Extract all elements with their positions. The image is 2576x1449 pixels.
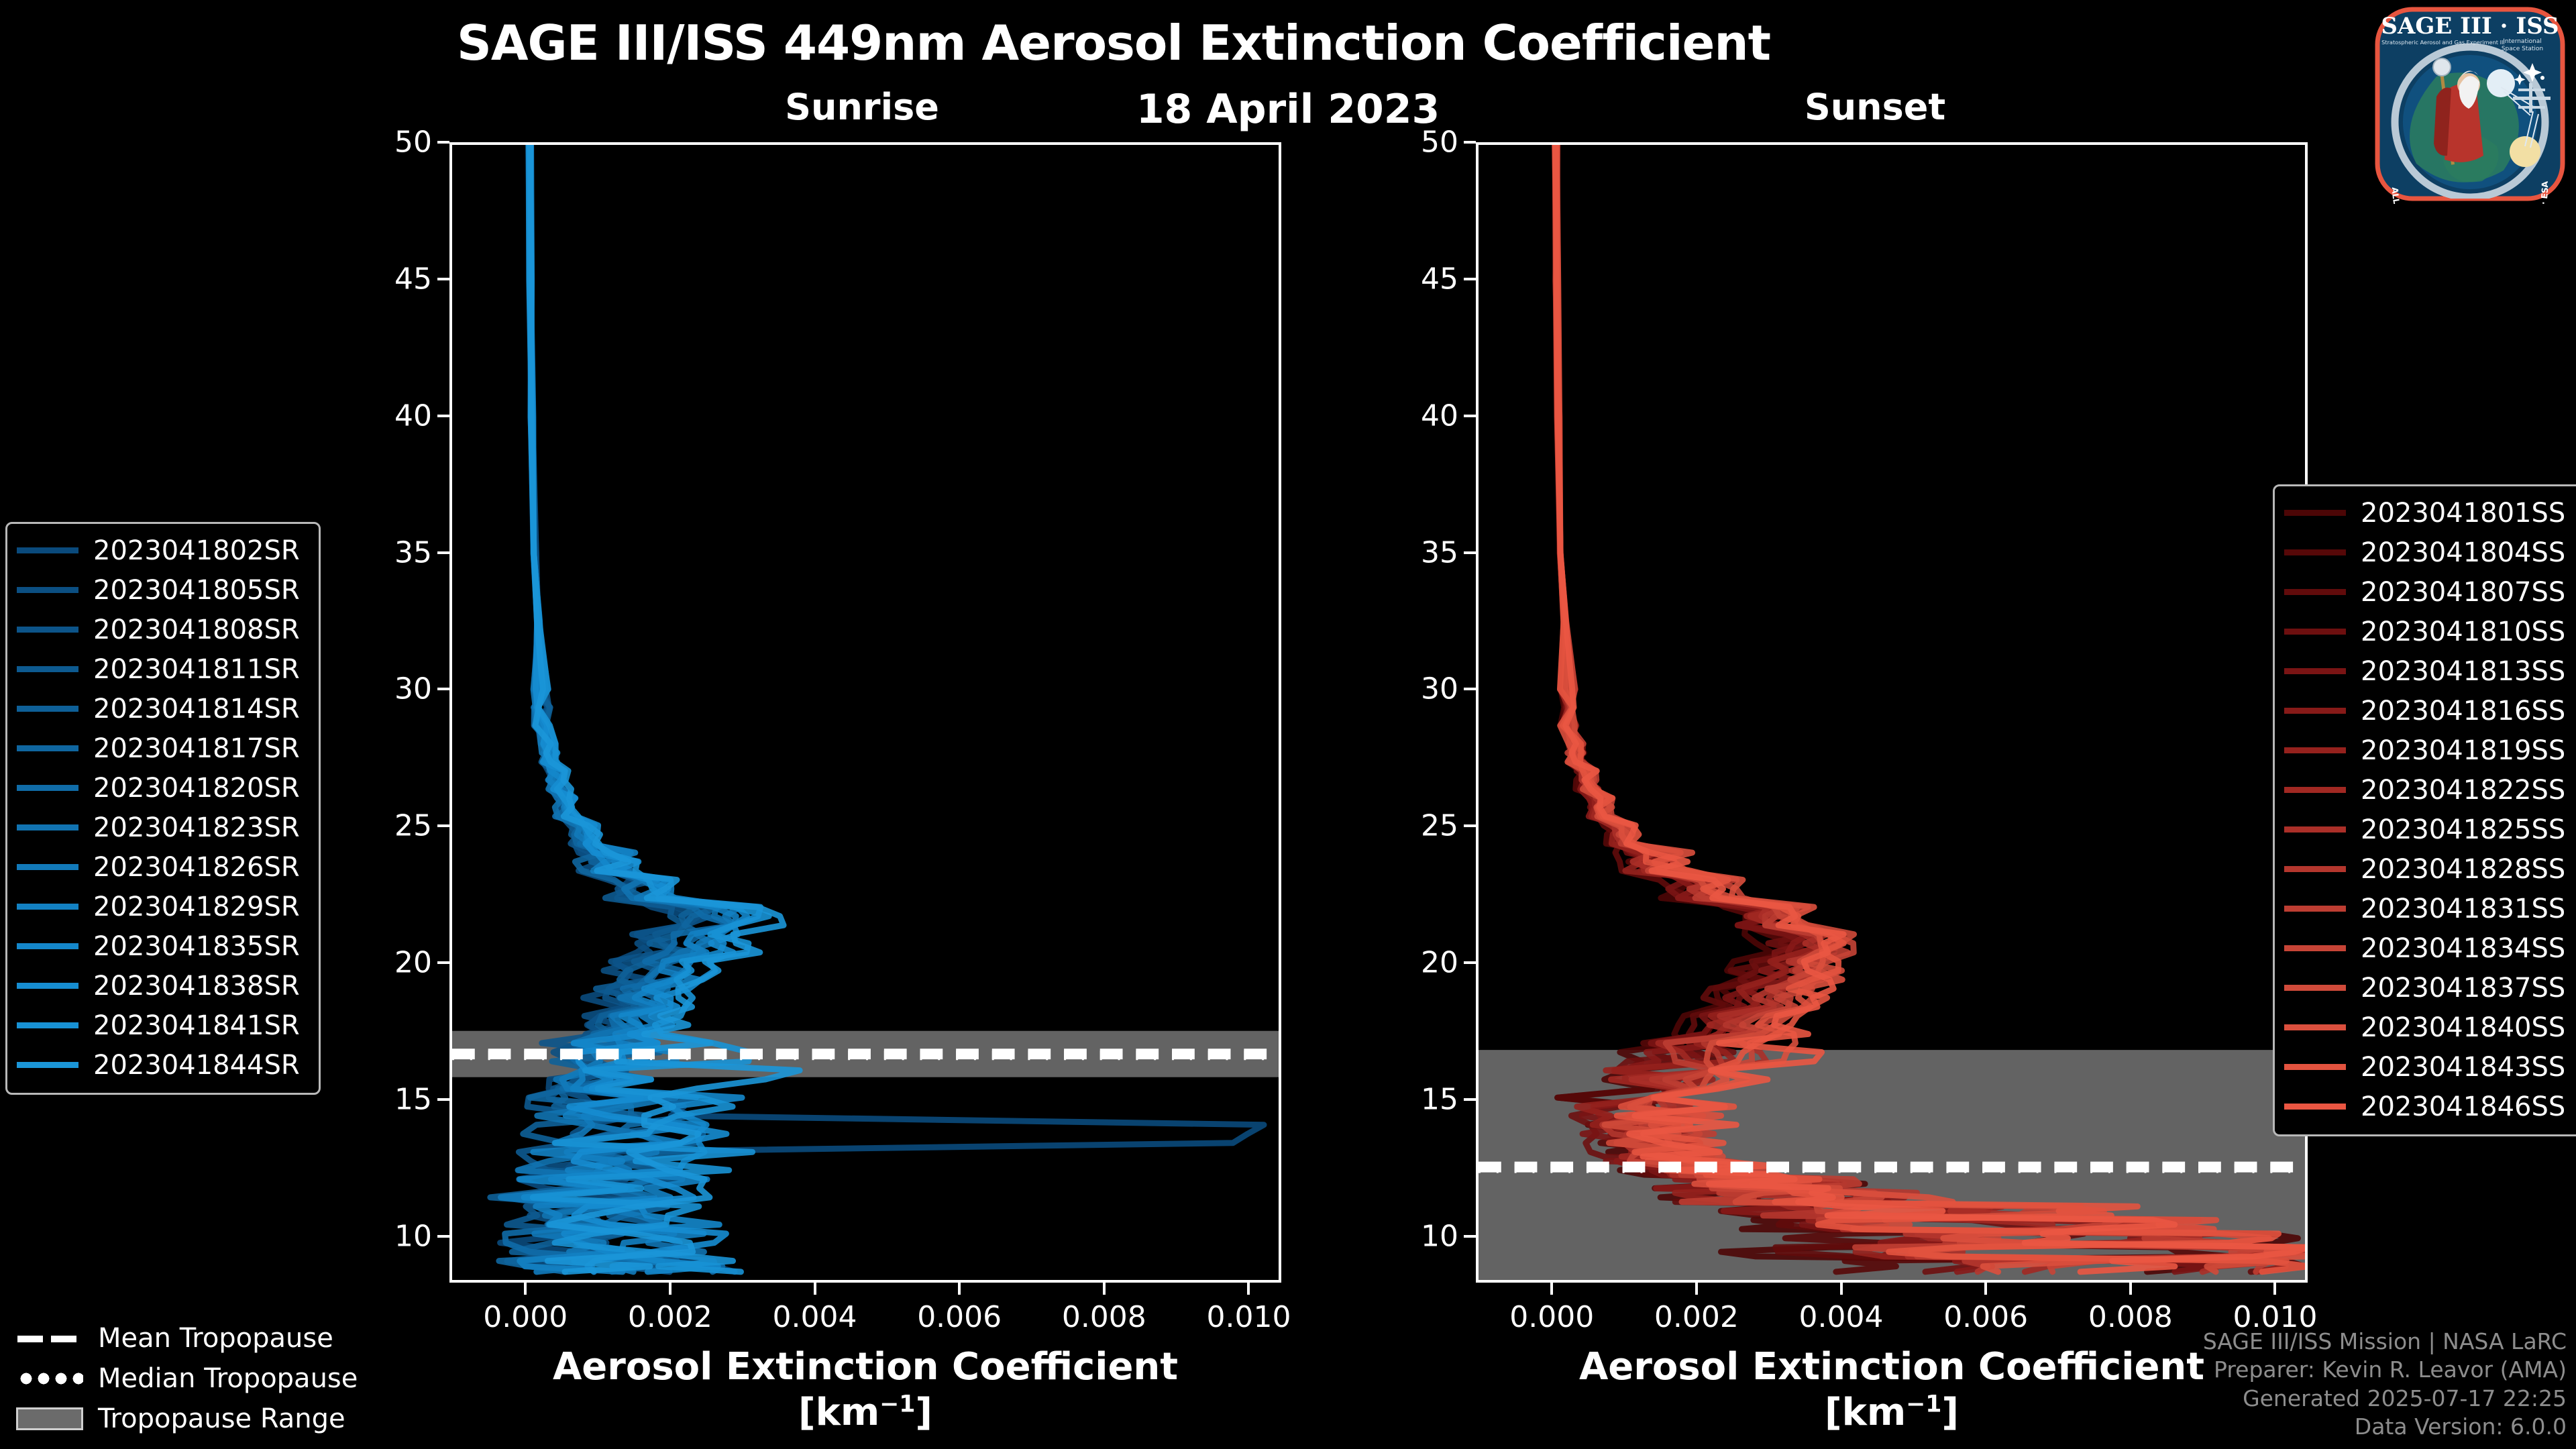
- legend-item-label: 2023041811SR: [93, 654, 300, 685]
- tropopause-range-label: Tropopause Range: [98, 1403, 345, 1434]
- x-tick-mark: [669, 1283, 672, 1295]
- sunrise-axes-frame: [449, 142, 1281, 1283]
- x-tick-label: 0.008: [1062, 1300, 1146, 1334]
- legend-item-sunrise-0[interactable]: 2023041802SR: [17, 531, 307, 570]
- sunset-panel-title: Sunset: [1462, 86, 2288, 128]
- legend-item-label: 2023041814SR: [93, 694, 300, 724]
- y-tick-mark: [437, 278, 449, 280]
- y-tick-mark: [1464, 1235, 1476, 1238]
- x-axis-label-text-right: Aerosol Extinction Coefficient: [1579, 1345, 2204, 1389]
- x-axis-label-left: Aerosol Extinction Coefficient [km−1]: [449, 1344, 1281, 1436]
- legend-item-label: 2023041804SS: [2361, 537, 2565, 568]
- x-tick-mark: [1840, 1283, 1843, 1295]
- legend-color-swatch-icon: [2284, 787, 2346, 793]
- legend-color-swatch-icon: [2284, 1024, 2346, 1030]
- legend-color-swatch-icon: [17, 785, 78, 791]
- x-tick-label: 0.000: [483, 1300, 568, 1334]
- x-tick-label: 0.006: [1943, 1300, 2028, 1334]
- sunset-plot-panel: Altitude [km] 1015202530354045500.0000.0…: [1476, 142, 2308, 1283]
- legend-item-label: 2023041810SS: [2361, 616, 2565, 647]
- x-tick-mark: [1103, 1283, 1106, 1295]
- y-tick-mark: [437, 141, 449, 144]
- legend-item-sunrise-9[interactable]: 2023041829SR: [17, 887, 307, 926]
- legend-item-label: 2023041844SR: [93, 1050, 300, 1081]
- legend-color-swatch-icon: [2284, 866, 2346, 872]
- legend-sunset[interactable]: 2023041801SS2023041804SS2023041807SS2023…: [2273, 484, 2576, 1136]
- x-tick-mark: [1550, 1283, 1553, 1295]
- legend-item-sunset-7[interactable]: 2023041822SS: [2284, 770, 2576, 810]
- x-tick-mark: [2129, 1283, 2132, 1295]
- figure-root: SAGE III/ISS 449nm Aerosol Extinction Co…: [0, 0, 2576, 1449]
- x-axis-label-right: Aerosol Extinction Coefficient [km−1]: [1476, 1344, 2308, 1436]
- legend-item-label: 2023041829SR: [93, 892, 300, 922]
- y-tick-mark: [1464, 415, 1476, 417]
- legend-item-sunset-9[interactable]: 2023041828SS: [2284, 849, 2576, 889]
- legend-item-sunset-15[interactable]: 2023041846SS: [2284, 1087, 2576, 1126]
- x-tick-label: 0.004: [773, 1300, 857, 1334]
- legend-item-label: 2023041816SS: [2361, 696, 2565, 727]
- x-tick-mark: [2273, 1283, 2276, 1295]
- legend-color-swatch-icon: [2284, 1064, 2346, 1070]
- legend-item-sunset-5[interactable]: 2023041816SS: [2284, 691, 2576, 731]
- legend-color-swatch-icon: [17, 706, 78, 712]
- x-axis-units-left: [km−1]: [449, 1390, 1281, 1436]
- legend-item-label: 2023041825SS: [2361, 814, 2565, 845]
- legend-color-swatch-icon: [17, 943, 78, 949]
- legend-color-swatch-icon: [2284, 747, 2346, 753]
- x-tick-label: 0.000: [1509, 1300, 1594, 1334]
- legend-item-sunset-10[interactable]: 2023041831SS: [2284, 889, 2576, 928]
- y-tick-mark: [437, 551, 449, 554]
- legend-item-label: 2023041835SR: [93, 931, 300, 962]
- legend-item-label: 2023041822SS: [2361, 775, 2565, 806]
- credits-line-generated: Generated 2025-07-17 22:25: [2203, 1385, 2567, 1413]
- credits-block: SAGE III/ISS Mission | NASA LaRC Prepare…: [2203, 1328, 2567, 1441]
- legend-item-mean-tropopause: Mean Tropopause: [16, 1318, 365, 1358]
- legend-item-label: 2023041823SR: [93, 812, 300, 843]
- legend-color-swatch-icon: [2284, 906, 2346, 912]
- y-tick-mark: [1464, 551, 1476, 554]
- legend-item-label: 2023041841SR: [93, 1010, 300, 1041]
- x-tick-label: 0.006: [917, 1300, 1002, 1334]
- legend-item-sunset-14[interactable]: 2023041843SS: [2284, 1047, 2576, 1087]
- x-tick-label: 0.002: [1654, 1300, 1739, 1334]
- legend-color-swatch-icon: [17, 587, 78, 593]
- legend-color-swatch-icon: [17, 904, 78, 910]
- sage-iii-iss-logo-icon: SAGE III · ISS Stratospheric Aerosol and…: [2369, 3, 2571, 204]
- legend-item-label: 2023041817SR: [93, 733, 300, 764]
- legend-item-label: 2023041813SS: [2361, 656, 2565, 687]
- y-tick-mark: [437, 1098, 449, 1101]
- x-tick-label: 0.002: [628, 1300, 712, 1334]
- x-tick-mark: [814, 1283, 816, 1295]
- credits-line-data-version: Data Version: 6.0.0: [2203, 1413, 2567, 1441]
- y-tick-mark: [1464, 688, 1476, 690]
- legend-item-sunset-12[interactable]: 2023041837SS: [2284, 968, 2576, 1008]
- legend-item-sunrise-6[interactable]: 2023041820SR: [17, 768, 307, 808]
- legend-item-sunset-2[interactable]: 2023041807SS: [2284, 572, 2576, 612]
- legend-item-sunrise-4[interactable]: 2023041814SR: [17, 689, 307, 729]
- sunrise-plot-panel: Altitude [km] 1015202530354045500.0000.0…: [449, 142, 1281, 1283]
- legend-item-sunset-6[interactable]: 2023041819SS: [2284, 731, 2576, 770]
- legend-item-sunrise-3[interactable]: 2023041811SR: [17, 649, 307, 689]
- legend-color-swatch-icon: [17, 547, 78, 553]
- x-tick-mark: [1695, 1283, 1698, 1295]
- legend-item-label: 2023041820SR: [93, 773, 300, 804]
- legend-color-swatch-icon: [2284, 985, 2346, 991]
- sunrise-profile-curves: [452, 145, 1279, 1280]
- patch-subtitle-right-1: International: [2503, 38, 2541, 45]
- legend-sunrise[interactable]: 2023041802SR2023041805SR2023041808SR2023…: [5, 522, 321, 1095]
- legend-item-sunset-1[interactable]: 2023041804SS: [2284, 533, 2576, 572]
- legend-color-swatch-icon: [2284, 1104, 2346, 1110]
- legend-item-label: 2023041837SS: [2361, 973, 2565, 1004]
- y-tick-mark: [1464, 141, 1476, 144]
- legend-color-swatch-icon: [17, 666, 78, 672]
- legend-color-swatch-icon: [2284, 945, 2346, 951]
- credits-line-preparer: Preparer: Kevin R. Leavor (AMA): [2203, 1356, 2567, 1384]
- legend-item-label: 2023041840SS: [2361, 1012, 2565, 1043]
- legend-color-swatch-icon: [2284, 510, 2346, 516]
- tropopause-legend: Mean Tropopause Median Tropopause Tropop…: [16, 1318, 365, 1439]
- legend-item-label: 2023041843SS: [2361, 1052, 2565, 1083]
- legend-item-sunrise-11[interactable]: 2023041838SR: [17, 966, 307, 1006]
- legend-color-swatch-icon: [17, 983, 78, 989]
- legend-item-tropopause-range: Tropopause Range: [16, 1399, 365, 1439]
- legend-item-sunrise-7[interactable]: 2023041823SR: [17, 808, 307, 847]
- legend-color-swatch-icon: [2284, 589, 2346, 595]
- legend-item-sunrise-5[interactable]: 2023041817SR: [17, 729, 307, 768]
- x-tick-mark: [958, 1283, 961, 1295]
- legend-item-label: 2023041801SS: [2361, 498, 2565, 529]
- legend-item-label: 2023041802SR: [93, 535, 300, 566]
- legend-item-label: 2023041819SS: [2361, 735, 2565, 766]
- credits-line-mission: SAGE III/ISS Mission | NASA LaRC: [2203, 1328, 2567, 1356]
- legend-item-label: 2023041805SR: [93, 575, 300, 606]
- legend-item-median-tropopause: Median Tropopause: [16, 1358, 365, 1399]
- legend-item-sunset-8[interactable]: 2023041825SS: [2284, 810, 2576, 849]
- y-tick-mark: [1464, 278, 1476, 280]
- x-tick-mark: [1247, 1283, 1250, 1295]
- y-tick-mark: [437, 415, 449, 417]
- y-tick-mark: [437, 688, 449, 690]
- legend-item-label: 2023041826SR: [93, 852, 300, 883]
- x-tick-label: 0.008: [2088, 1300, 2173, 1334]
- y-tick-mark: [1464, 824, 1476, 827]
- patch-subtitle-left: Stratospheric Aerosol and Gas Experiment…: [2381, 39, 2505, 46]
- x-tick-mark: [1984, 1283, 1987, 1295]
- legend-item-sunset-13[interactable]: 2023041840SS: [2284, 1008, 2576, 1047]
- x-tick-mark: [524, 1283, 527, 1295]
- y-tick-mark: [437, 824, 449, 827]
- dashed-line-icon: [16, 1330, 83, 1346]
- x-axis-units-right: [km−1]: [1476, 1390, 2308, 1436]
- legend-item-label: 2023041834SS: [2361, 933, 2565, 964]
- mean-tropopause-label: Mean Tropopause: [98, 1323, 333, 1354]
- legend-color-swatch-icon: [17, 1062, 78, 1068]
- legend-item-sunrise-12[interactable]: 2023041841SR: [17, 1006, 307, 1045]
- dotted-line-icon: [16, 1370, 83, 1387]
- page-title: SAGE III/ISS 449nm Aerosol Extinction Co…: [0, 15, 2227, 71]
- median-tropopause-label: Median Tropopause: [98, 1363, 358, 1394]
- legend-color-swatch-icon: [2284, 668, 2346, 674]
- legend-color-swatch-icon: [17, 824, 78, 830]
- legend-item-sunrise-1[interactable]: 2023041805SR: [17, 570, 307, 610]
- legend-color-swatch-icon: [2284, 826, 2346, 833]
- legend-item-sunrise-8[interactable]: 2023041826SR: [17, 847, 307, 887]
- legend-color-swatch-icon: [2284, 629, 2346, 635]
- legend-item-label: 2023041831SS: [2361, 894, 2565, 924]
- legend-item-sunset-11[interactable]: 2023041834SS: [2284, 928, 2576, 968]
- legend-item-sunset-0[interactable]: 2023041801SS: [2284, 493, 2576, 533]
- legend-item-sunset-3[interactable]: 2023041810SS: [2284, 612, 2576, 651]
- legend-item-sunset-4[interactable]: 2023041813SS: [2284, 651, 2576, 691]
- x-axis-label-text-left: Aerosol Extinction Coefficient: [553, 1345, 1178, 1389]
- y-tick-mark: [437, 1235, 449, 1238]
- legend-color-swatch-icon: [2284, 549, 2346, 555]
- sunset-axes-frame: [1476, 142, 2308, 1283]
- y-tick-mark: [1464, 1098, 1476, 1101]
- x-tick-label: 0.004: [1799, 1300, 1884, 1334]
- y-tick-mark: [1464, 961, 1476, 964]
- legend-item-label: 2023041838SR: [93, 971, 300, 1002]
- legend-item-sunrise-2[interactable]: 2023041808SR: [17, 610, 307, 649]
- y-tick-mark: [437, 961, 449, 964]
- legend-item-label: 2023041828SS: [2361, 854, 2565, 885]
- patch-title: SAGE III · ISS: [2381, 13, 2559, 40]
- legend-color-swatch-icon: [17, 1022, 78, 1028]
- gray-band-swatch-icon: [16, 1407, 83, 1430]
- legend-color-swatch-icon: [17, 864, 78, 870]
- legend-item-label: 2023041846SS: [2361, 1091, 2565, 1122]
- legend-color-swatch-icon: [2284, 708, 2346, 714]
- legend-item-sunrise-13[interactable]: 2023041844SR: [17, 1045, 307, 1085]
- sunset-profile-curves: [1479, 145, 2305, 1280]
- legend-item-sunrise-10[interactable]: 2023041835SR: [17, 926, 307, 966]
- legend-color-swatch-icon: [17, 627, 78, 633]
- legend-color-swatch-icon: [17, 745, 78, 751]
- patch-subtitle-right-2: Space Station: [2502, 46, 2543, 52]
- legend-item-label: 2023041807SS: [2361, 577, 2565, 608]
- x-tick-label: 0.010: [1206, 1300, 1291, 1334]
- legend-item-label: 2023041808SR: [93, 614, 300, 645]
- patch-sun: [2510, 136, 2540, 167]
